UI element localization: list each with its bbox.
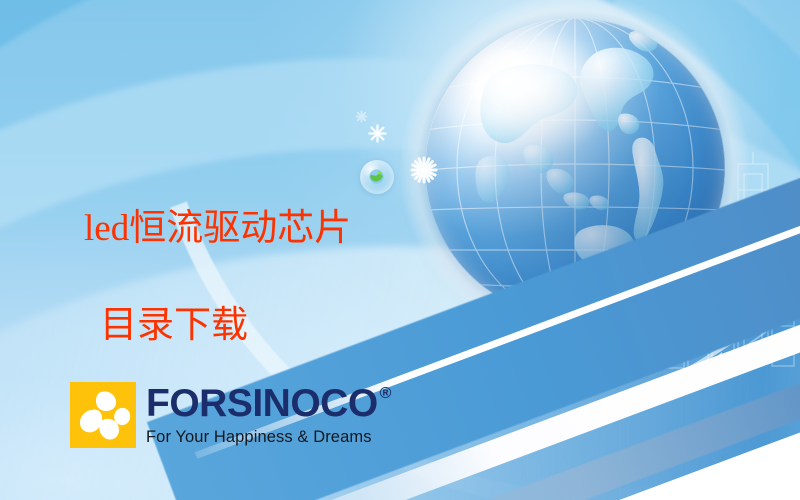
- brand-name: FORSINOCO: [146, 384, 378, 423]
- headline-line-2: 目录下载: [100, 302, 444, 351]
- starburst-icon: [355, 110, 368, 128]
- logo-tagline: For Your Happiness & Dreams: [146, 428, 391, 447]
- banner-canvas: led恒流驱动芯片 目录下载 FORSINOCO ® For Your Happ…: [0, 0, 800, 500]
- registered-trademark-icon: ®: [380, 386, 391, 402]
- logo-text-block: FORSINOCO ® For Your Happiness & Dreams: [146, 382, 391, 447]
- four-petal-pinwheel-icon: [70, 382, 136, 448]
- starburst-icon: [368, 124, 387, 148]
- headline-line-1: led恒流驱动芯片: [84, 205, 444, 254]
- logo-wordmark: FORSINOCO ®: [146, 384, 391, 423]
- brand-logo[interactable]: FORSINOCO ® For Your Happiness & Dreams: [70, 382, 391, 448]
- headline: led恒流驱动芯片 目录下载: [84, 163, 444, 393]
